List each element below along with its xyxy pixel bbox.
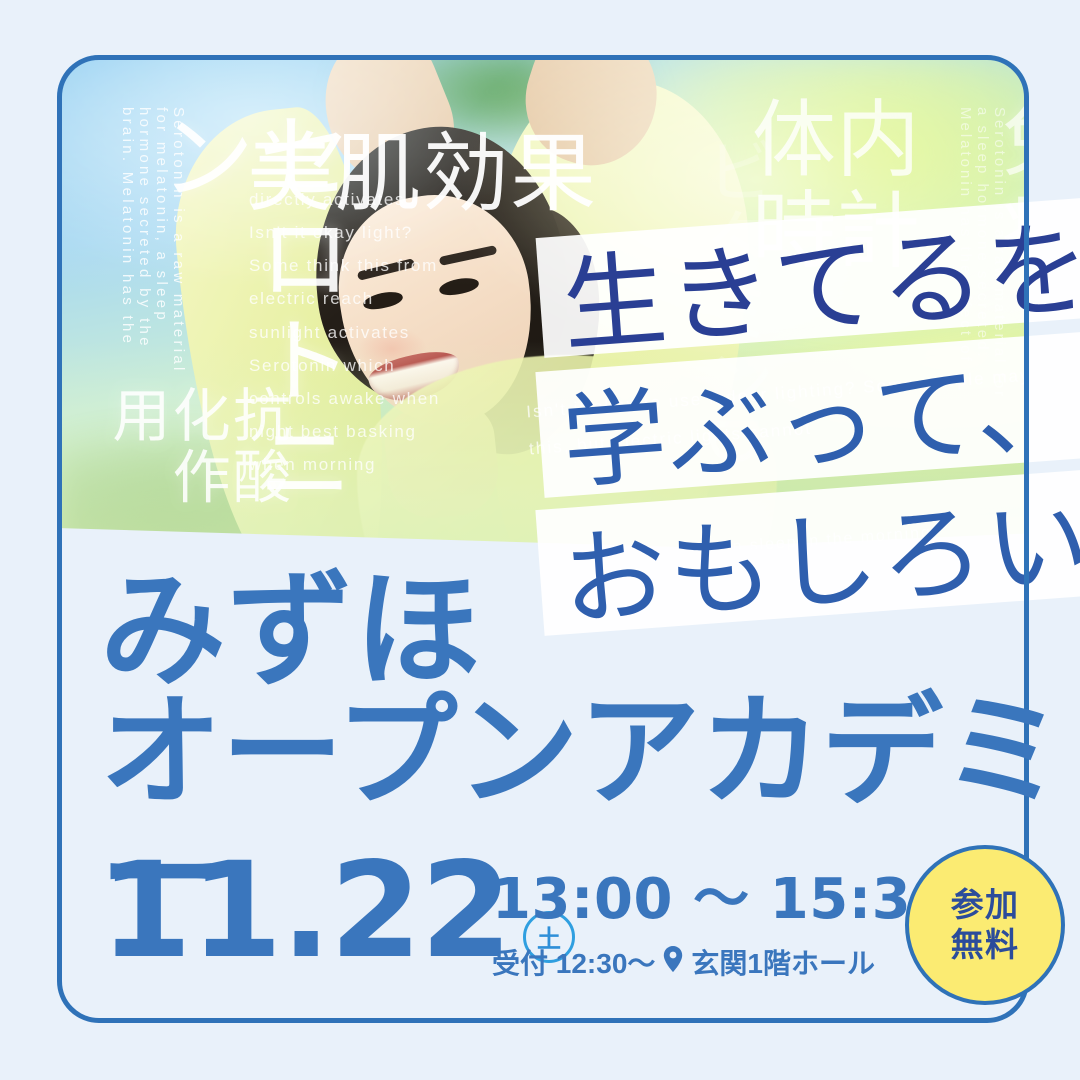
badge-line-2: 無料 — [951, 925, 1020, 965]
hero-photo: Serotonin is a raw material for melatoni… — [57, 55, 1029, 555]
event-time-block: 13:00 〜 15:30 受付 12:30〜 玄関1階ホール — [492, 872, 951, 982]
venue-name: 玄関1階ホール — [691, 942, 875, 982]
location-pin-icon — [663, 946, 683, 979]
keyword-body-clock: 体内時計 — [752, 95, 952, 276]
badge-line-1: 参加 — [951, 885, 1020, 925]
poster-canvas: Serotonin is a raw material for melatoni… — [0, 0, 1080, 1080]
english-column-text: directly activates Isn't it okay light? … — [249, 183, 449, 481]
event-time-range: 13:00 〜 15:30 — [492, 872, 951, 928]
title-line-1: みずほ — [100, 565, 1080, 696]
free-entry-badge: 参加 無料 — [905, 845, 1065, 1005]
keyword-immunity: 免疫 — [992, 95, 1029, 273]
reception-time: 受付 12:30〜 — [492, 942, 655, 982]
event-date: 11.22 — [100, 855, 511, 969]
event-details-row: 受付 12:30〜 玄関1階ホール — [492, 942, 951, 982]
